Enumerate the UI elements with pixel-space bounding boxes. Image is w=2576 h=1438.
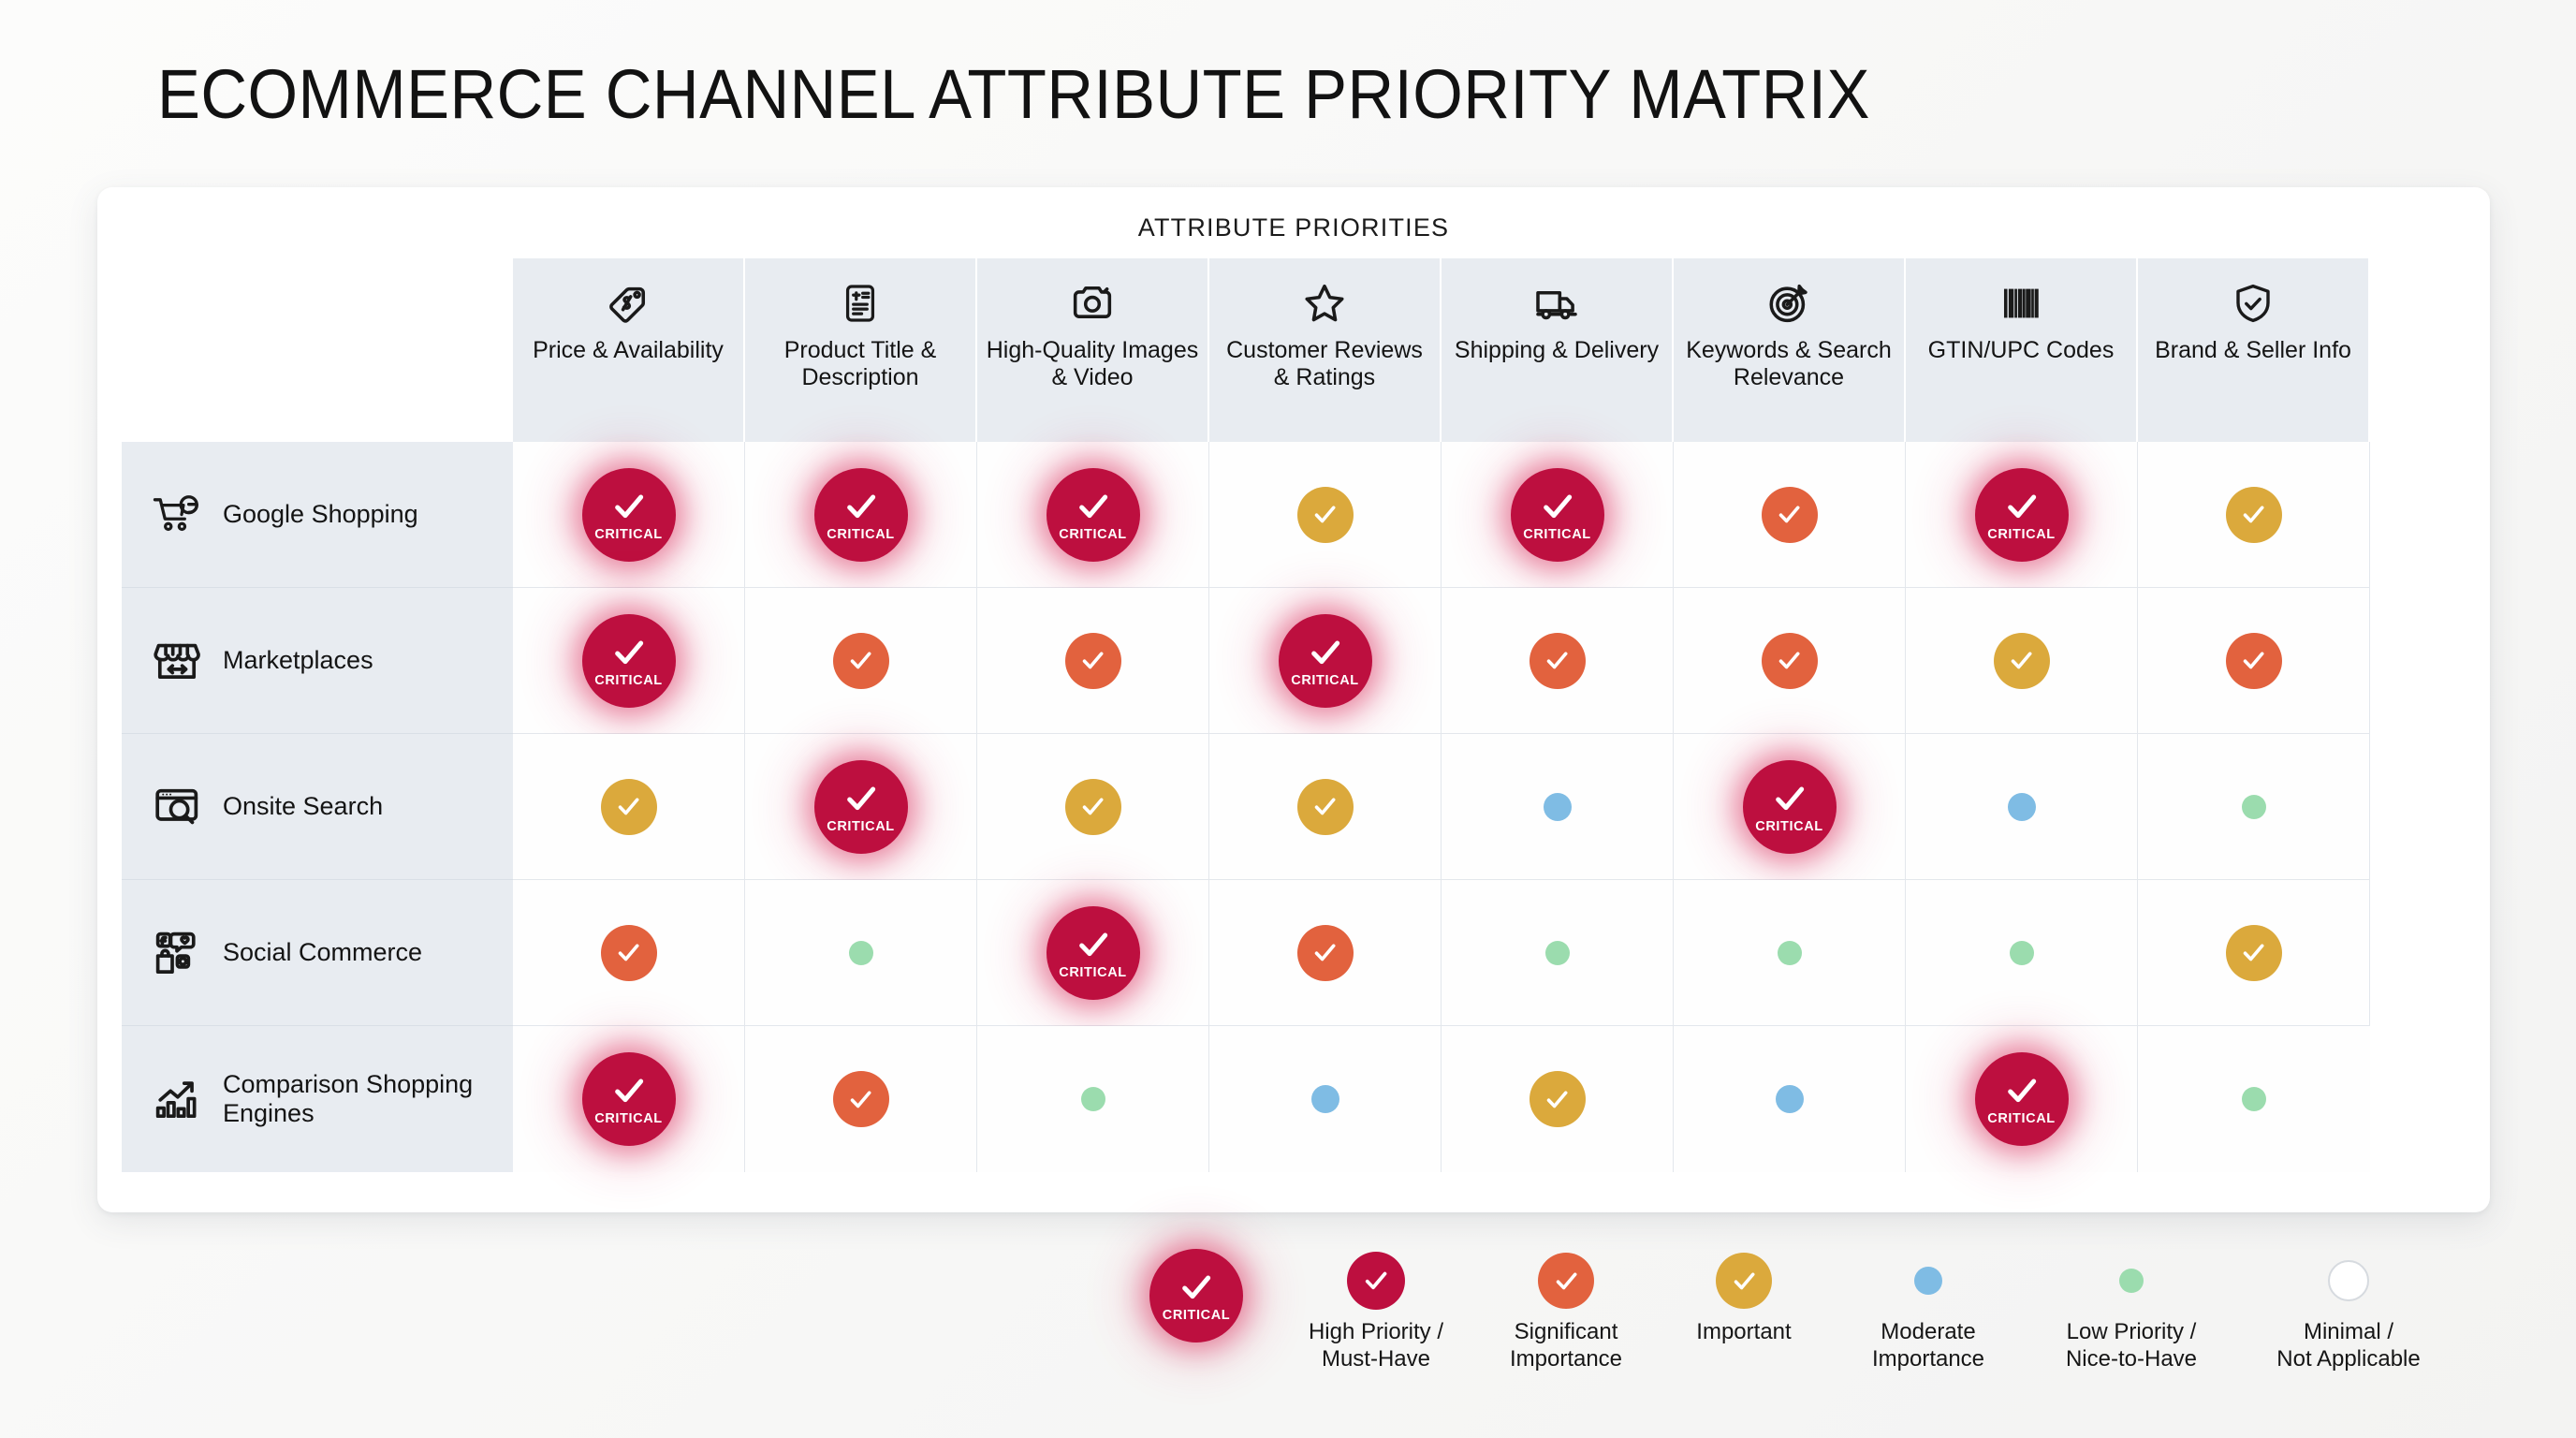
priority-marker-critical[interactable]: CRITICAL (814, 760, 908, 854)
priority-marker-critical[interactable]: CRITICAL (1046, 468, 1140, 562)
priority-marker-important[interactable] (1716, 1253, 1772, 1309)
legend-item-important: Important (1659, 1245, 1829, 1345)
legend-label: High Priority / Must-Have (1309, 1318, 1443, 1373)
legend-item-minimal: Minimal / Not Applicable (2235, 1245, 2462, 1373)
matrix-cell[interactable] (1674, 588, 1906, 734)
priority-marker-critical[interactable]: CRITICAL (1743, 760, 1837, 854)
matrix-cell[interactable] (745, 1026, 977, 1172)
row-header-label: Google Shopping (223, 500, 418, 529)
priority-marker-low[interactable] (1778, 941, 1802, 965)
legend-item-high: High Priority / Must-Have (1279, 1245, 1473, 1373)
column-header-5: Keywords & Search Relevance (1674, 258, 1906, 442)
legend-swatch (1914, 1245, 1942, 1316)
matrix-cell[interactable] (2138, 588, 2370, 734)
column-header-label: Customer Reviews & Ratings (1217, 337, 1432, 392)
grid-corner-spacer (122, 258, 513, 442)
priority-marker-important[interactable] (601, 779, 657, 835)
priority-marker-significant[interactable] (1529, 633, 1586, 689)
matrix-cell[interactable] (1906, 880, 2138, 1026)
critical-badge-text: CRITICAL (1755, 820, 1822, 834)
star-icon (1300, 277, 1349, 330)
column-header-label: Brand & Seller Info (2155, 337, 2351, 364)
matrix-cell[interactable] (1209, 880, 1442, 1026)
priority-marker-low[interactable] (849, 941, 873, 965)
matrix-cell[interactable] (1209, 442, 1442, 588)
row-header-label: Comparison Shopping Engines (223, 1070, 513, 1129)
priority-marker-moderate[interactable] (2008, 793, 2036, 821)
legend-swatch (2119, 1245, 2144, 1316)
matrix-cell[interactable] (2138, 880, 2370, 1026)
critical-badge-text: CRITICAL (1291, 674, 1358, 688)
priority-marker-critical[interactable]: CRITICAL (582, 1052, 676, 1146)
legend-item-moderate: Moderate Importance (1829, 1245, 2027, 1373)
matrix-cell[interactable] (1442, 588, 1674, 734)
priority-marker-moderate[interactable] (1914, 1267, 1942, 1295)
matrix-cell[interactable] (977, 588, 1209, 734)
priority-matrix-grid: Price & AvailabilityProduct Title & Desc… (122, 258, 2462, 1172)
column-header-label: High-Quality Images & Video (985, 337, 1200, 392)
shield-check-icon (2231, 277, 2276, 330)
priority-marker-critical[interactable]: CRITICAL (582, 468, 676, 562)
priority-marker-important[interactable] (2226, 487, 2282, 543)
matrix-cell[interactable] (745, 588, 977, 734)
column-header-label: Product Title & Description (753, 337, 968, 392)
priority-marker-significant[interactable] (1538, 1253, 1594, 1309)
column-header-label: GTIN/UPC Codes (1928, 337, 2115, 364)
critical-badge-text: CRITICAL (827, 820, 894, 834)
matrix-cell[interactable]: CRITICAL (1442, 442, 1674, 588)
critical-badge-text: CRITICAL (827, 528, 894, 542)
row-header-label: Marketplaces (223, 646, 373, 675)
matrix-cell[interactable] (2138, 1026, 2370, 1172)
priority-marker-critical[interactable]: CRITICAL (582, 614, 676, 708)
critical-badge-text: CRITICAL (1523, 528, 1590, 542)
legend-swatch: CRITICAL (1149, 1245, 1243, 1346)
matrix-cell[interactable] (977, 1026, 1209, 1172)
matrix-cell[interactable]: CRITICAL (745, 442, 977, 588)
legend-swatch (1538, 1245, 1594, 1316)
priority-marker-moderate[interactable] (1544, 793, 1572, 821)
row-header-3: Social Commerce (122, 880, 513, 1026)
legend-swatch (1347, 1245, 1405, 1316)
column-header-2: High-Quality Images & Video (977, 258, 1209, 442)
matrix-cell[interactable] (1442, 734, 1674, 880)
priority-marker-low[interactable] (2242, 1087, 2266, 1111)
critical-badge-text: CRITICAL (1163, 1309, 1230, 1323)
row-header-1: Marketplaces (122, 588, 513, 734)
column-header-label: Keywords & Search Relevance (1681, 337, 1896, 392)
matrix-cell[interactable]: CRITICAL (1674, 734, 1906, 880)
matrix-cell[interactable]: CRITICAL (513, 1026, 745, 1172)
priority-marker-critical[interactable]: CRITICAL (1975, 468, 2069, 562)
priority-legend: CRITICALCRITICALHigh Priority / Must-Hav… (1114, 1245, 2462, 1373)
priority-marker-low[interactable] (2119, 1269, 2144, 1293)
priority-marker-significant[interactable] (1065, 633, 1121, 689)
column-header-3: Customer Reviews & Ratings (1209, 258, 1442, 442)
matrix-cell[interactable]: CRITICAL (977, 442, 1209, 588)
priority-marker-significant[interactable] (601, 925, 657, 981)
matrix-cell[interactable]: CRITICAL (745, 734, 977, 880)
priority-marker-important[interactable] (1994, 633, 2050, 689)
row-header-0: Google Shopping (122, 442, 513, 588)
priority-marker-critical[interactable]: CRITICAL (1149, 1249, 1243, 1343)
matrix-cell[interactable] (2138, 442, 2370, 588)
priority-marker-low[interactable] (1081, 1087, 1105, 1111)
priority-marker-critical[interactable]: CRITICAL (1046, 906, 1140, 1000)
priority-marker-important[interactable] (1297, 779, 1354, 835)
critical-badge-text: CRITICAL (594, 528, 662, 542)
price-tag-icon (605, 277, 651, 330)
priority-marker-low[interactable] (2010, 941, 2034, 965)
column-header-label: Shipping & Delivery (1455, 337, 1659, 364)
column-header-1: Product Title & Description (745, 258, 977, 442)
priority-marker-significant[interactable] (833, 1071, 889, 1127)
legend-swatch (1716, 1245, 1772, 1316)
matrix-cell[interactable] (1674, 880, 1906, 1026)
matrix-cell[interactable] (513, 734, 745, 880)
priority-marker-important[interactable] (1529, 1071, 1586, 1127)
priority-marker-critical[interactable]: CRITICAL (814, 468, 908, 562)
matrix-cell[interactable] (745, 880, 977, 1026)
matrix-card: ATTRIBUTE PRIORITIES Price & Availabilit… (97, 187, 2490, 1212)
matrix-cell[interactable] (2138, 734, 2370, 880)
matrix-cell[interactable] (1674, 1026, 1906, 1172)
legend-label: Important (1696, 1318, 1791, 1345)
browser-search-icon (152, 783, 202, 831)
priority-marker-important[interactable] (2226, 925, 2282, 981)
legend-label: Minimal / Not Applicable (2276, 1318, 2420, 1373)
row-header-2: Onsite Search (122, 734, 513, 880)
matrix-cell[interactable] (1209, 1026, 1442, 1172)
shopping-cart-google-icon (152, 491, 202, 539)
legend-item-low: Low Priority / Nice-to-Have (2027, 1245, 2235, 1373)
critical-badge-text: CRITICAL (594, 674, 662, 688)
target-dart-icon (1765, 277, 1812, 330)
matrix-cell[interactable] (1674, 442, 1906, 588)
legend-item-critical: CRITICALCRITICAL (1114, 1245, 1279, 1348)
legend-item-significant: Significant Importance (1473, 1245, 1659, 1373)
matrix-cell[interactable] (1906, 588, 2138, 734)
priority-marker-critical[interactable]: CRITICAL (1975, 1052, 2069, 1146)
matrix-cell[interactable] (1209, 734, 1442, 880)
column-header-label: Price & Availability (533, 337, 724, 364)
matrix-cell[interactable] (513, 880, 745, 1026)
critical-badge-text: CRITICAL (1059, 528, 1126, 542)
critical-badge-text: CRITICAL (1987, 528, 2055, 542)
priority-marker-significant[interactable] (833, 633, 889, 689)
priority-marker-minimal[interactable] (2328, 1260, 2369, 1301)
page-title: ECOMMERCE CHANNEL ATTRIBUTE PRIORITY MAT… (157, 54, 1870, 134)
delivery-truck-icon (1531, 277, 1582, 330)
critical-badge-text: CRITICAL (1987, 1112, 2055, 1126)
priority-marker-significant[interactable] (1762, 487, 1818, 543)
matrix-cell[interactable] (977, 734, 1209, 880)
storefront-icon (152, 637, 202, 685)
matrix-cell[interactable]: CRITICAL (977, 880, 1209, 1026)
barcode-icon (1997, 277, 2045, 330)
matrix-cell[interactable] (1906, 734, 2138, 880)
camera-icon (1068, 277, 1117, 330)
matrix-cell[interactable]: CRITICAL (513, 588, 745, 734)
social-shopping-bag-icon (152, 929, 202, 977)
matrix-cell[interactable] (1442, 880, 1674, 1026)
infographic-root: ECOMMERCE CHANNEL ATTRIBUTE PRIORITY MAT… (0, 0, 2576, 1438)
priority-marker-low[interactable] (2242, 795, 2266, 819)
row-header-label: Onsite Search (223, 792, 383, 821)
column-header-0: Price & Availability (513, 258, 745, 442)
priority-marker-high[interactable] (1347, 1252, 1405, 1310)
critical-badge-text: CRITICAL (1059, 966, 1126, 980)
matrix-cell[interactable]: CRITICAL (1209, 588, 1442, 734)
legend-label: Low Priority / Nice-to-Have (2066, 1318, 2197, 1373)
priority-marker-critical[interactable]: CRITICAL (1279, 614, 1372, 708)
document-text-icon (839, 277, 882, 330)
priority-marker-moderate[interactable] (1311, 1085, 1339, 1113)
column-header-4: Shipping & Delivery (1442, 258, 1674, 442)
legend-label: Moderate Importance (1872, 1318, 1984, 1373)
matrix-cell[interactable]: CRITICAL (513, 442, 745, 588)
row-header-label: Social Commerce (223, 938, 422, 967)
priority-marker-important[interactable] (1297, 487, 1354, 543)
priority-marker-critical[interactable]: CRITICAL (1511, 468, 1604, 562)
matrix-cell[interactable]: CRITICAL (1906, 1026, 2138, 1172)
matrix-cell[interactable]: CRITICAL (1906, 442, 2138, 588)
row-header-4: Comparison Shopping Engines (122, 1026, 513, 1172)
column-header-7: Brand & Seller Info (2138, 258, 2370, 442)
growth-chart-icon (152, 1075, 202, 1123)
column-header-6: GTIN/UPC Codes (1906, 258, 2138, 442)
priority-marker-important[interactable] (1065, 779, 1121, 835)
priority-marker-significant[interactable] (1762, 633, 1818, 689)
priority-marker-moderate[interactable] (1776, 1085, 1804, 1113)
priority-marker-significant[interactable] (2226, 633, 2282, 689)
columns-axis-title: ATTRIBUTE PRIORITIES (97, 213, 2490, 242)
legend-label: Significant Importance (1510, 1318, 1622, 1373)
critical-badge-text: CRITICAL (594, 1112, 662, 1126)
matrix-cell[interactable] (1442, 1026, 1674, 1172)
priority-marker-significant[interactable] (1297, 925, 1354, 981)
priority-marker-low[interactable] (1545, 941, 1570, 965)
legend-swatch (2328, 1245, 2369, 1316)
